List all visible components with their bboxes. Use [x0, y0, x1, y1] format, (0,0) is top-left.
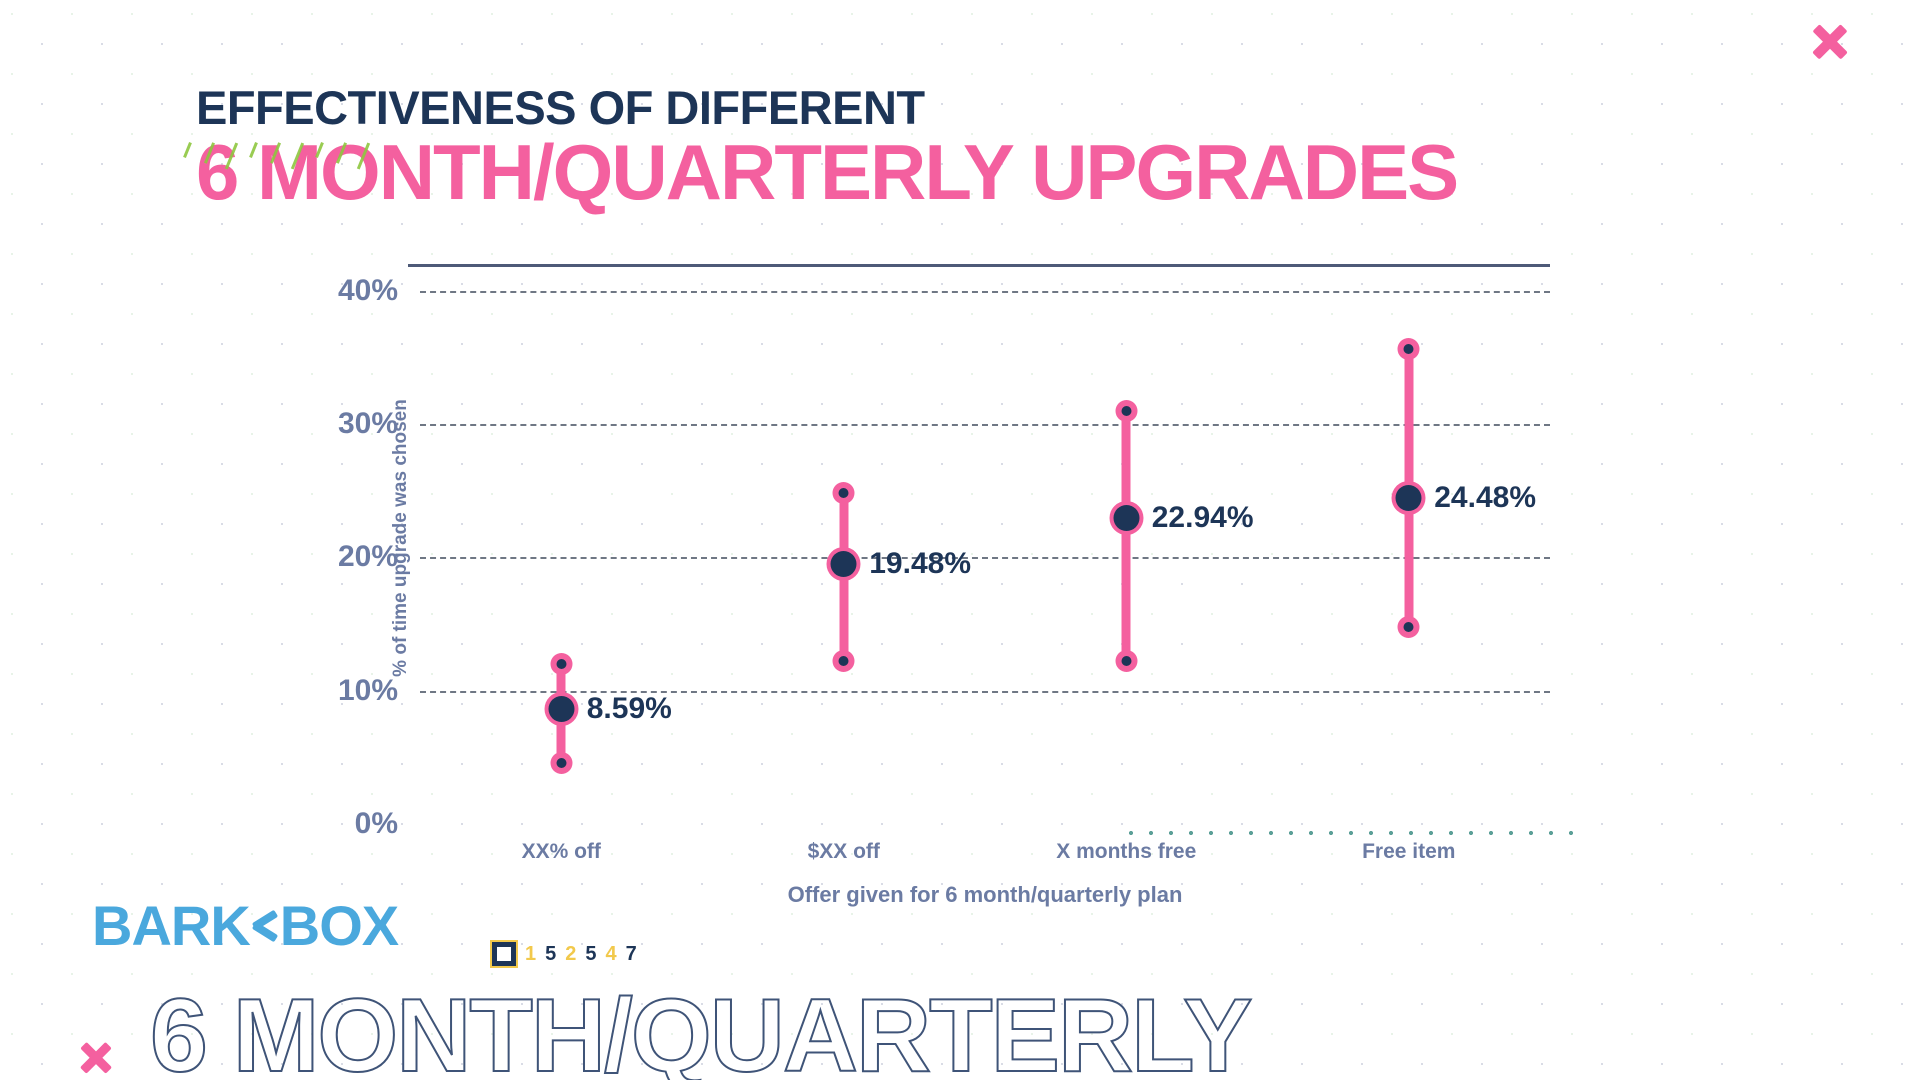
- plot-area: 0%10%20%30%40% 8.59%19.48%22.94%24.48% X…: [420, 264, 1550, 824]
- x-mark-icon-top-right: [1810, 22, 1850, 62]
- data-value-label: 8.59%: [587, 692, 672, 726]
- mean-data-point[interactable]: [1109, 501, 1143, 535]
- code-digit: 2: [565, 944, 576, 964]
- error-bar-line: [1122, 411, 1131, 662]
- code-digit: 5: [585, 944, 596, 964]
- error-bar: 24.48%: [1404, 264, 1413, 824]
- mean-data-point[interactable]: [827, 547, 861, 581]
- x-mark-icon-bottom-left: [78, 1040, 114, 1076]
- x-axis-tick-label: Free item: [1362, 840, 1455, 864]
- barkbox-logo: BARK BOX: [92, 898, 398, 954]
- code-digit: 5: [545, 944, 556, 964]
- baseline-dotted-accent: [1121, 830, 1573, 836]
- barkbox-logo-right: BOX: [280, 898, 398, 954]
- square-icon: [492, 942, 516, 966]
- y-axis-tick-label: 0%: [355, 807, 398, 841]
- data-value-label: 24.48%: [1434, 481, 1536, 515]
- mean-data-point[interactable]: [1392, 481, 1426, 515]
- error-bar-cap-upper: [1115, 400, 1137, 422]
- error-bar: 8.59%: [557, 264, 566, 824]
- bone-icon: [252, 913, 278, 939]
- error-bar: 19.48%: [839, 264, 848, 824]
- code-digit: 1: [525, 944, 536, 964]
- code-digit: 4: [606, 944, 617, 964]
- page-title-line-1: EFFECTIVENESS OF DIFFERENT: [196, 84, 1756, 131]
- data-value-label: 22.94%: [1152, 501, 1254, 535]
- x-axis-tick-label: XX% off: [522, 840, 601, 864]
- error-bar-series: 8.59%19.48%22.94%24.48%: [420, 264, 1550, 824]
- error-bar-cap-lower: [1115, 650, 1137, 672]
- chart-container: % of time upgrade was chosen 0%10%20%30%…: [250, 244, 1670, 884]
- error-bar-cap-upper: [833, 482, 855, 504]
- page-title-line-2: 6 MONTH/QUARTERLY UPGRADES: [196, 135, 1756, 209]
- ghost-outline-text: 6 MONTH/QUARTERLY: [150, 984, 1250, 1080]
- error-bar-cap-upper: [550, 653, 572, 675]
- barkbox-logo-left: BARK: [92, 898, 250, 954]
- y-axis-tick-label: 20%: [338, 540, 398, 574]
- y-axis-tick-label: 40%: [338, 274, 398, 308]
- error-bar: 22.94%: [1122, 264, 1131, 824]
- code-digit: 7: [626, 944, 637, 964]
- error-bar-cap-lower: [1398, 616, 1420, 638]
- error-bar-cap-lower: [550, 752, 572, 774]
- data-value-label: 19.48%: [869, 547, 971, 581]
- error-bar-cap-lower: [833, 650, 855, 672]
- x-axis-tick-label: $XX off: [808, 840, 880, 864]
- y-axis-tick-label: 30%: [338, 407, 398, 441]
- x-axis-label: Offer given for 6 month/quarterly plan: [788, 882, 1183, 908]
- title-block: EFFECTIVENESS OF DIFFERENT 6 MONTH/QUART…: [196, 84, 1756, 209]
- error-bar-cap-upper: [1398, 338, 1420, 360]
- y-axis-label: % of time upgrade was chosen: [390, 400, 412, 678]
- y-axis-tick-label: 10%: [338, 674, 398, 708]
- slide-canvas: EFFECTIVENESS OF DIFFERENT 6 MONTH/QUART…: [0, 0, 1920, 1080]
- mean-data-point[interactable]: [544, 692, 578, 726]
- x-axis-tick-label: X months free: [1056, 840, 1196, 864]
- code-strip: 152547: [492, 942, 637, 966]
